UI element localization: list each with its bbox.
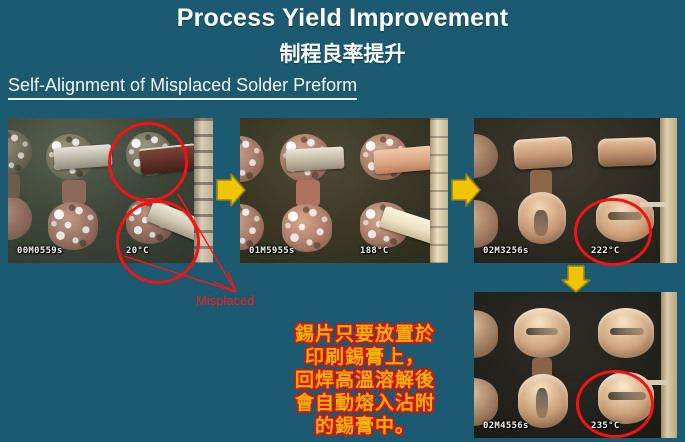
panel-3-timestamp: 02M3256s [483,246,529,256]
board-edge-strip-3 [660,118,677,263]
solder-preform-centre [53,144,112,170]
caption-line-1: 錫片只要放置於 [245,323,485,346]
misplaced-annotation-label: Misplaced [196,293,255,308]
leader-arrowhead-a [214,282,236,292]
slide-canvas: Process Yield Improvement 制程良率提升 Self-Al… [0,0,685,442]
melted-preform-p3-upper [598,137,657,167]
solder-joint-p4-centre-bottom [518,374,568,428]
caption-line-5: 的錫膏中。 [245,415,485,438]
panel-1-timestamp: 00M0559s [17,246,63,256]
page-title: Process Yield Improvement [0,4,685,33]
solder-preform-p2-centre [285,146,344,171]
caption-line-4: 會自動熔入沾附 [245,392,485,415]
solder-joint-p4-centre-top [514,308,570,358]
solder-bump-p3-centre [518,192,566,244]
arrow-down-1 [562,266,590,292]
caption-line-3: 回焊高溫溶解後 [245,369,485,392]
panel-2-photo [240,118,448,263]
caption-block: 錫片只要放置於 印刷錫膏上， 回焊高溫溶解後 會自動熔入沾附 的錫膏中。 [245,323,485,438]
caption-line-2: 印刷錫膏上， [245,346,485,369]
highlight-circle-aligned [576,370,654,438]
panel-4-timestamp: 02M4556s [483,421,529,431]
board-edge-strip-4 [661,292,677,438]
highlight-circle-misplaced-lower [116,200,200,284]
panel-2: 01M5955s 188°C [240,118,448,263]
panel-2-temperature: 188°C [360,246,389,256]
panel-2-timestamp: 01M5955s [249,246,295,256]
leader-arrowhead-b [228,272,236,292]
solder-joint-p4-upper-right [598,308,654,358]
highlight-circle-reflow [574,198,652,266]
melted-preform-p3-centre-top [513,136,573,170]
page-title-chinese: 制程良率提升 [0,38,685,68]
page-subtitle: Self-Alignment of Misplaced Solder Prefo… [8,75,357,100]
solder-preform-p2-upper [373,146,433,175]
highlight-circle-misplaced-upper [108,122,188,202]
